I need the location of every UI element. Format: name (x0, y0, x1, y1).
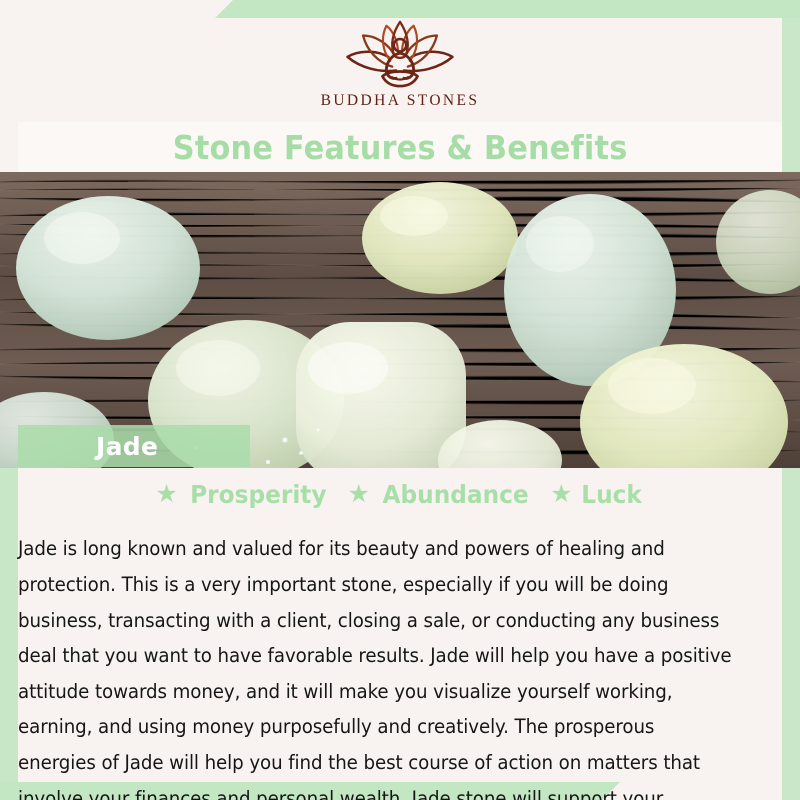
star-icon: ★ (550, 482, 572, 507)
lotus-meditation-icon (330, 18, 470, 88)
brand-name: BUDDHA STONES (321, 92, 480, 110)
stone-name-label: Jade (96, 432, 158, 461)
stone-info-card: BUDDHA STONES Stone Features & Benefits (0, 0, 800, 800)
decorative-band-top (215, 0, 800, 18)
star-icon: ★ (155, 482, 177, 507)
benefit-label: Prosperity (190, 480, 326, 509)
benefits-row: ★ Prosperity ★ Abundance ★ Luck (18, 478, 782, 510)
page-title: Stone Features & Benefits (173, 128, 628, 167)
title-band: Stone Features & Benefits (18, 122, 782, 172)
brand-logo-block: BUDDHA STONES (0, 18, 800, 122)
benefit-item: ★ Prosperity (155, 480, 331, 509)
benefit-label: Abundance (382, 480, 528, 509)
stone-description: Jade is long known and valued for its be… (18, 531, 736, 800)
stone-name-banner: Jade (18, 425, 250, 467)
benefit-item: ★ Luck (550, 480, 645, 509)
hero-stone-photo (0, 172, 800, 468)
benefit-item: ★ Abundance (347, 480, 534, 509)
star-icon: ★ (347, 482, 369, 507)
benefit-label: Luck (582, 480, 643, 509)
